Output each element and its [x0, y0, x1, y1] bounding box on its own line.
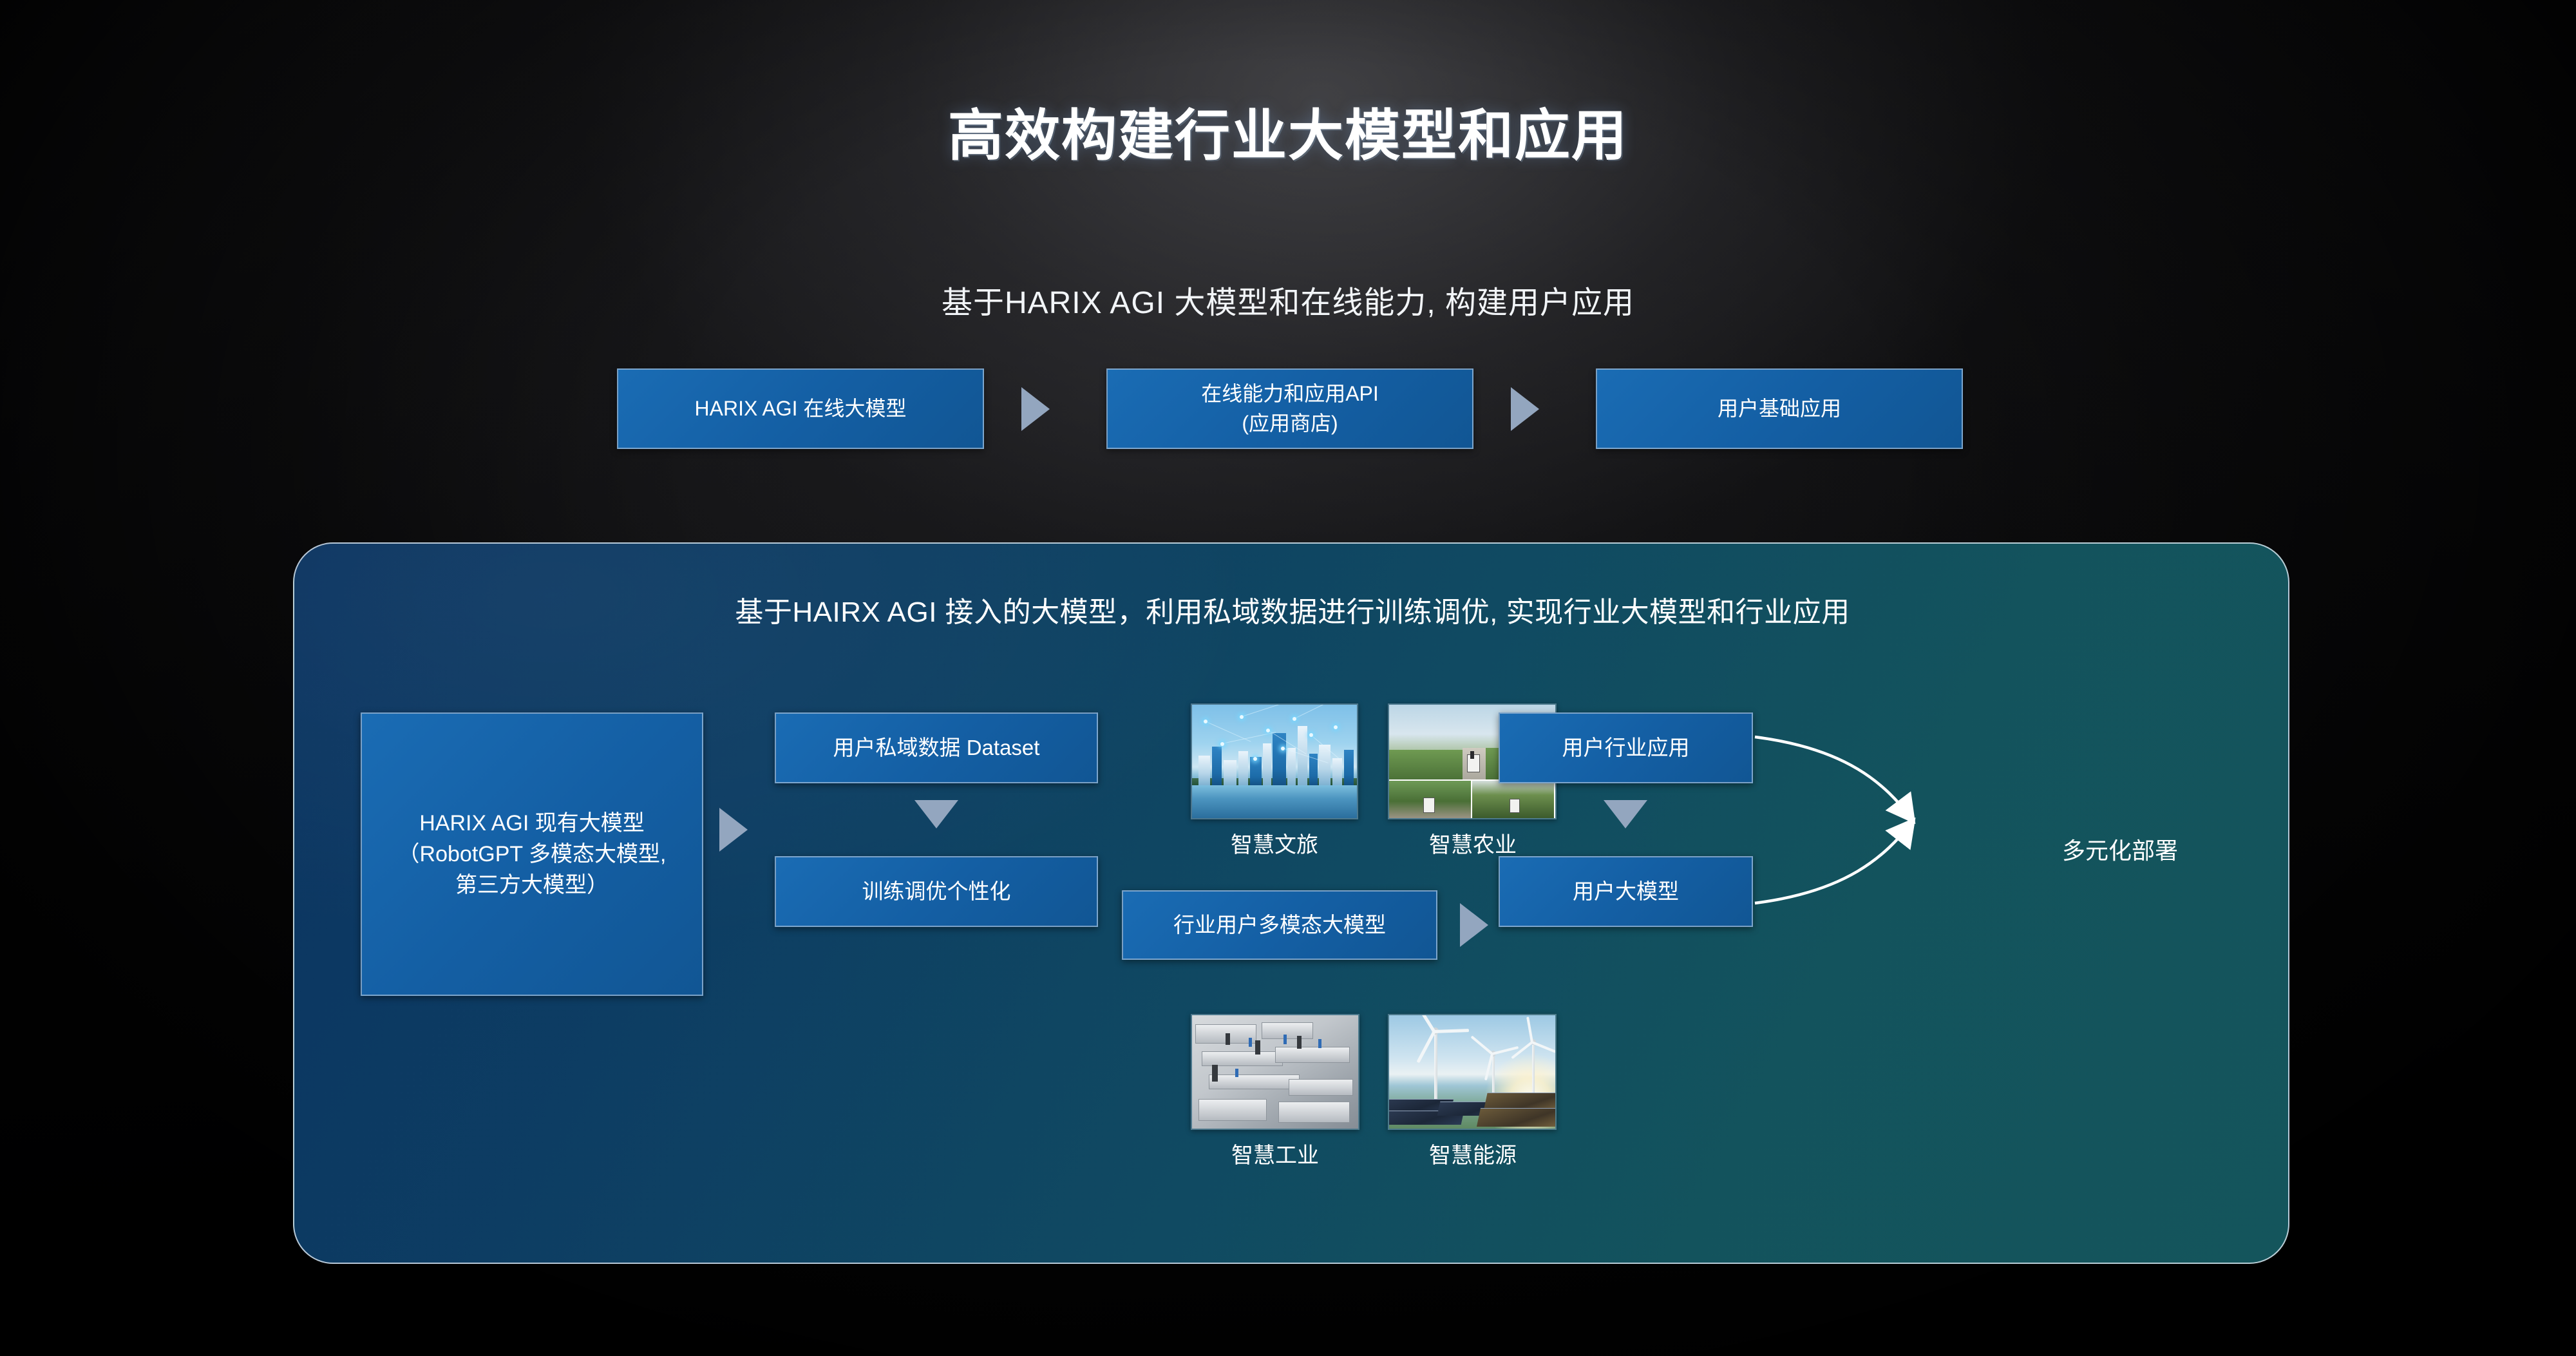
panel-header: 基于HAIRX AGI 接入的大模型，利用私域数据进行训练调优, 实现行业大模型… [294, 589, 2289, 630]
network-link [1222, 732, 1276, 744]
existing-model-line3: 第三方大模型） [446, 870, 618, 901]
top-flow-step-2[interactable]: 在线能力和应用API (应用商店) [1106, 368, 1473, 449]
turbine-blade [1414, 1014, 1435, 1033]
thumbnail-smart-energy[interactable] [1388, 1014, 1557, 1130]
sensor [1255, 1040, 1260, 1055]
top-flow-step-3-label: 用户基础应用 [1709, 394, 1850, 423]
turbine-blade [1531, 1042, 1557, 1054]
network-node [1253, 757, 1257, 761]
conveyor [1202, 1051, 1283, 1066]
machine-unit [1198, 1099, 1266, 1121]
user-model-box[interactable]: 用户大模型 [1499, 856, 1753, 927]
network-node [1293, 717, 1296, 721]
sensor [1212, 1065, 1218, 1082]
city-building [1263, 743, 1271, 785]
triangle-right-icon-4 [1460, 903, 1488, 947]
existing-model-line2: （RobotGPT 多模态大模型, [389, 839, 676, 870]
solar-panel-row [1477, 1108, 1557, 1127]
deploy-label: 多元化部署 [2062, 832, 2178, 866]
network-node [1334, 725, 1338, 729]
industry-model-panel: 基于HAIRX AGI 接入的大模型，利用私域数据进行训练调优, 实现行业大模型… [293, 542, 2289, 1264]
agri-robot [1510, 799, 1520, 813]
conveyor [1289, 1079, 1353, 1096]
conveyor [1209, 1074, 1300, 1089]
smart-energy-image [1389, 1015, 1555, 1129]
smart-city-image [1192, 705, 1357, 818]
triangle-right-icon-3 [719, 808, 748, 852]
network-node [1220, 742, 1224, 746]
conveyor [1275, 1047, 1350, 1063]
indicator [1235, 1069, 1238, 1077]
city-building [1250, 757, 1262, 785]
top-flow-step-2-label-line2: (应用商店) [1233, 409, 1347, 438]
city-building [1344, 750, 1354, 785]
page-title: 高效构建行业大模型和应用 [0, 90, 2576, 171]
indicator [1318, 1039, 1321, 1048]
network-link [1294, 703, 1329, 719]
smart-industry-image [1192, 1015, 1358, 1129]
page-subtitle: 基于HARIX AGI 大模型和在线能力, 构建用户应用 [0, 277, 2576, 322]
deploy-arrow-top [1755, 737, 1912, 819]
triangle-right-icon-1 [1021, 387, 1050, 431]
existing-model-box[interactable]: HARIX AGI 现有大模型 （RobotGPT 多模态大模型, 第三方大模型… [361, 712, 703, 996]
wind-turbine-mast [1532, 1040, 1535, 1100]
turbine-blade [1434, 1029, 1469, 1033]
training-box[interactable]: 训练调优个性化 [775, 856, 1098, 927]
thumbnail-smart-energy-label: 智慧能源 [1370, 1138, 1576, 1169]
agri-sub-photo-1 [1389, 779, 1472, 818]
sensor [1297, 1036, 1302, 1049]
thumbnail-smart-city[interactable] [1191, 703, 1358, 819]
industry-multimodal-model-box[interactable]: 行业用户多模态大模型 [1122, 890, 1437, 960]
machine-unit [1262, 1022, 1312, 1040]
dataset-box-label: 用户私域数据 Dataset [824, 733, 1049, 763]
agri-robot-arm [1470, 751, 1474, 759]
top-flow-step-2-label-line1: 在线能力和应用API [1192, 379, 1388, 408]
solar-panel-row [1484, 1093, 1557, 1109]
city-building [1287, 748, 1296, 785]
training-box-label: 训练调优个性化 [853, 877, 1020, 907]
network-node [1240, 715, 1244, 719]
triangle-down-icon-1 [914, 800, 958, 828]
agri-sub-photo-2 [1472, 779, 1555, 818]
turbine-blade [1416, 1031, 1435, 1063]
machine-unit [1278, 1102, 1349, 1123]
indicator [1249, 1038, 1252, 1047]
thumbnail-smart-agriculture-label: 智慧农业 [1370, 827, 1576, 859]
thumbnail-smart-industry-label: 智慧工业 [1172, 1138, 1378, 1169]
sensor [1226, 1033, 1230, 1045]
industry-multimodal-model-label: 行业用户多模态大模型 [1164, 910, 1395, 941]
triangle-down-icon-2 [1604, 800, 1647, 828]
turbine-blade [1470, 1036, 1493, 1055]
city-building [1224, 760, 1236, 785]
city-building [1238, 751, 1248, 785]
indicator [1283, 1035, 1287, 1044]
wind-turbine-mast [1434, 1029, 1437, 1102]
dataset-box[interactable]: 用户私域数据 Dataset [775, 712, 1098, 783]
existing-model-line1: HARIX AGI 现有大模型 [410, 808, 654, 839]
city-building [1198, 756, 1210, 785]
network-node [1204, 720, 1207, 723]
network-link [1242, 703, 1281, 717]
user-industry-app-box[interactable]: 用户行业应用 [1499, 712, 1753, 783]
triangle-right-icon-2 [1511, 387, 1539, 431]
turbine-blade [1526, 1017, 1533, 1043]
agri-robot [1423, 797, 1435, 813]
top-flow-step-1-label: HARIX AGI 在线大模型 [686, 394, 916, 423]
city-water [1192, 785, 1357, 818]
thumbnail-smart-industry[interactable] [1191, 1014, 1359, 1130]
city-building [1212, 747, 1222, 785]
top-flow-step-1[interactable]: HARIX AGI 在线大模型 [617, 368, 984, 449]
user-model-label: 用户大模型 [1564, 877, 1688, 907]
crop-row [1389, 750, 1469, 779]
network-node [1309, 733, 1313, 737]
user-industry-app-label: 用户行业应用 [1553, 733, 1699, 763]
city-building [1332, 758, 1342, 785]
thumbnail-smart-city-label: 智慧文旅 [1171, 827, 1378, 859]
deploy-arrow-bottom [1755, 822, 1912, 903]
top-flow-step-3[interactable]: 用户基础应用 [1596, 368, 1963, 449]
